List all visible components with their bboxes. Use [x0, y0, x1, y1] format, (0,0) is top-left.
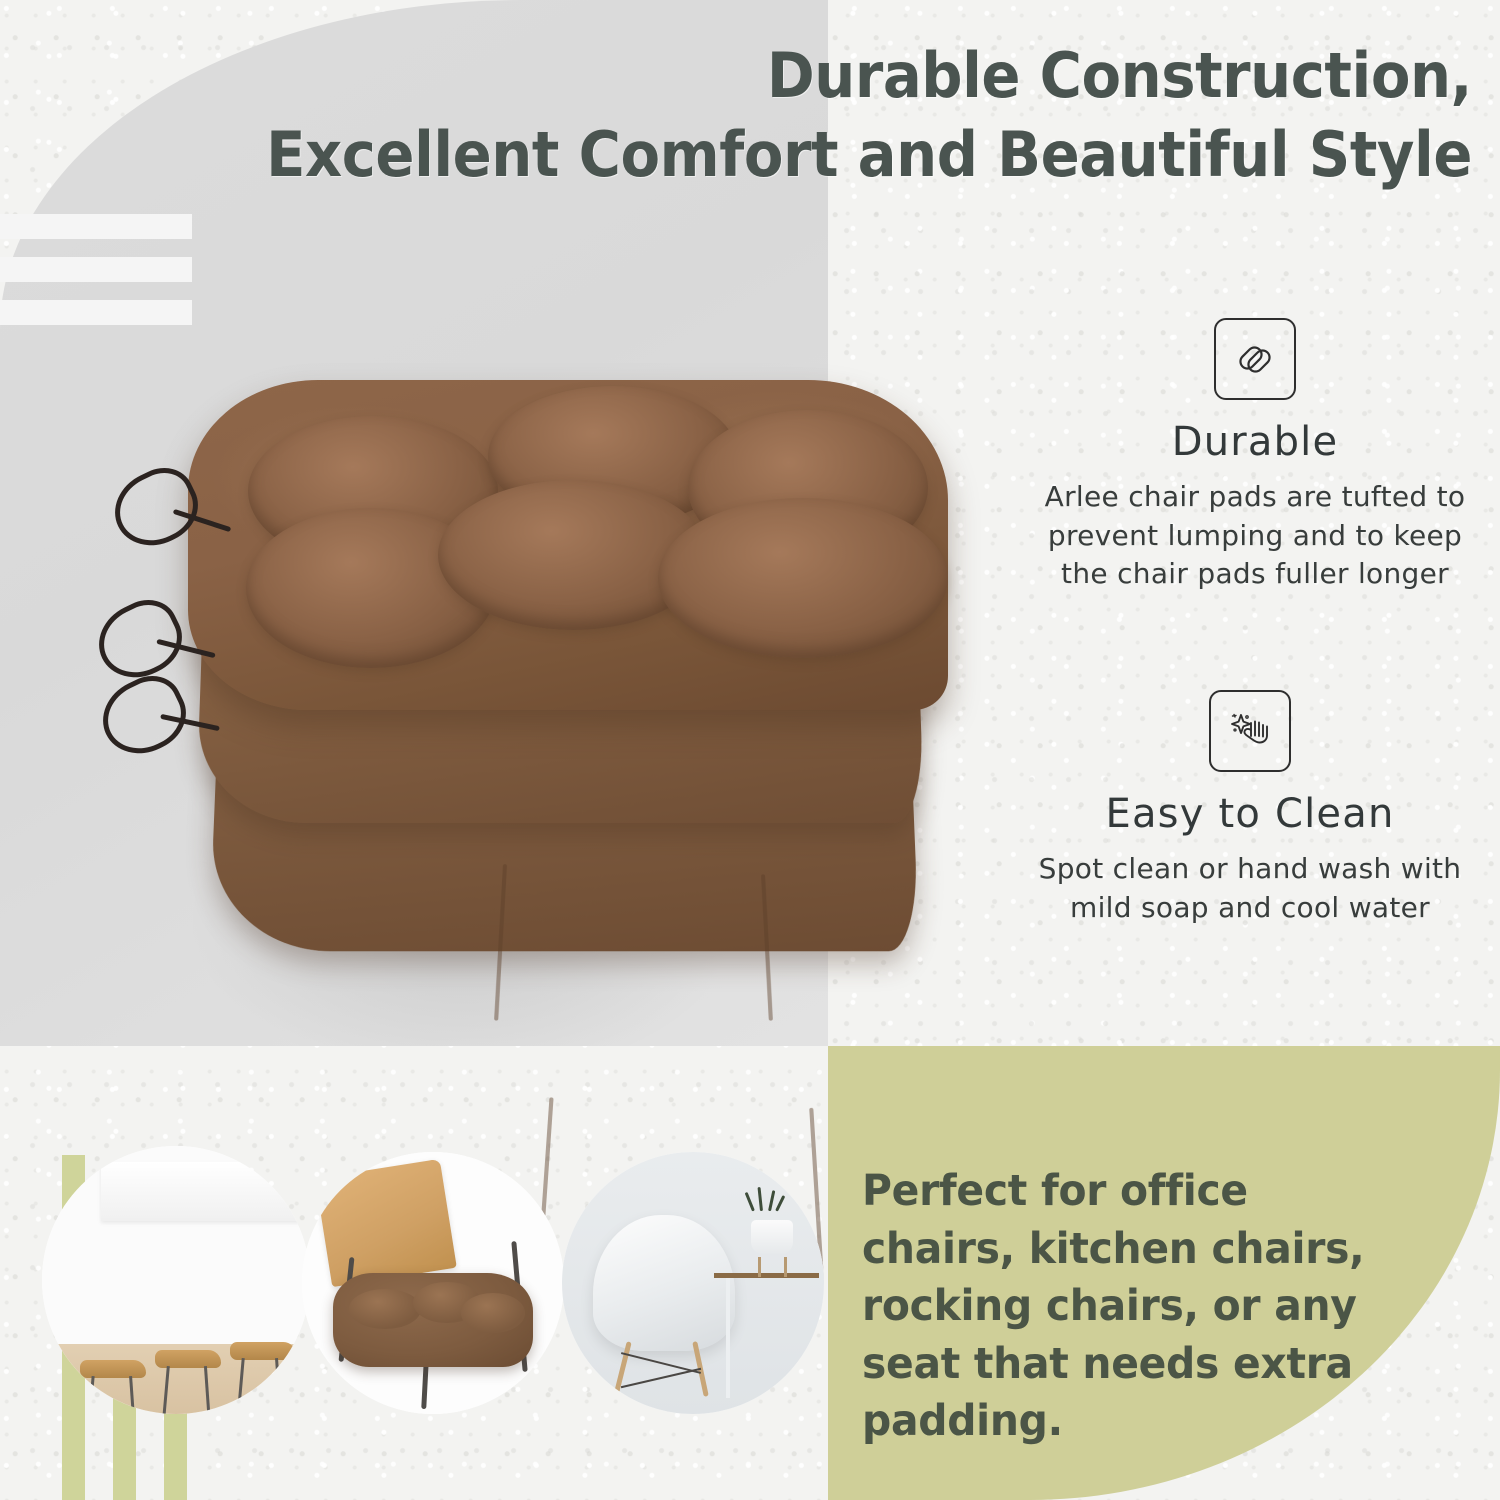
cushion-tie-string — [90, 665, 197, 767]
feature-block-easy-to-clean: Easy to Clean Spot clean or hand wash wi… — [1035, 690, 1465, 927]
stool-footring — [231, 1408, 289, 1414]
counter — [101, 1162, 310, 1221]
page-headline: Durable Construction, Excellent Comfort … — [159, 36, 1472, 195]
potted-plant — [748, 1189, 782, 1211]
tuft-puff — [349, 1289, 421, 1329]
sparkle-hand-icon — [1209, 690, 1291, 772]
decorative-stripe-group — [0, 214, 200, 334]
plant-stand-leg — [758, 1257, 761, 1277]
feature-title-durable: Durable — [1040, 420, 1470, 464]
lifestyle-photo-bar-stools — [42, 1146, 310, 1414]
hero-product-photo — [96, 360, 976, 1020]
feature-block-durable: Durable Arlee chair pads are tufted to p… — [1040, 318, 1470, 594]
lifestyle-photo-eames-chair — [562, 1152, 824, 1414]
tuft-puff — [461, 1293, 525, 1333]
decorative-stripe-3 — [0, 300, 192, 325]
plant-leaf — [768, 1190, 775, 1211]
decorative-stripe-1 — [0, 214, 192, 239]
stool-seat — [230, 1342, 296, 1360]
stool-seat — [80, 1360, 146, 1378]
decorative-stripe-2 — [0, 257, 192, 282]
stool-seat — [155, 1350, 221, 1368]
feature-body-easy-to-clean: Spot clean or hand wash with mild soap a… — [1035, 850, 1465, 927]
promo-text: Perfect for office chairs, kitchen chair… — [862, 1163, 1394, 1451]
feature-title-easy-to-clean: Easy to Clean — [1035, 792, 1465, 836]
cushion-tie-string — [86, 589, 193, 691]
tuft-puff — [658, 498, 948, 658]
headline-line-1: Durable Construction, — [159, 36, 1472, 115]
plant-pot — [751, 1220, 793, 1254]
side-table-leg — [726, 1278, 730, 1399]
lifestyle-photo-chair-pad-on-chair — [302, 1152, 564, 1414]
headline-line-2: Excellent Comfort and Beautiful Style — [159, 115, 1472, 194]
side-table-top — [714, 1273, 819, 1278]
infographic-canvas: Durable Construction, Excellent Comfort … — [0, 0, 1500, 1500]
chain-link-icon — [1214, 318, 1296, 400]
chair-pad-top — [188, 380, 948, 710]
brown-chair-pad — [333, 1273, 532, 1367]
chair-backrest — [315, 1159, 456, 1287]
plant-leaf — [758, 1187, 763, 1211]
plant-stand-leg — [784, 1257, 787, 1277]
feature-body-durable: Arlee chair pads are tufted to prevent l… — [1040, 478, 1470, 594]
